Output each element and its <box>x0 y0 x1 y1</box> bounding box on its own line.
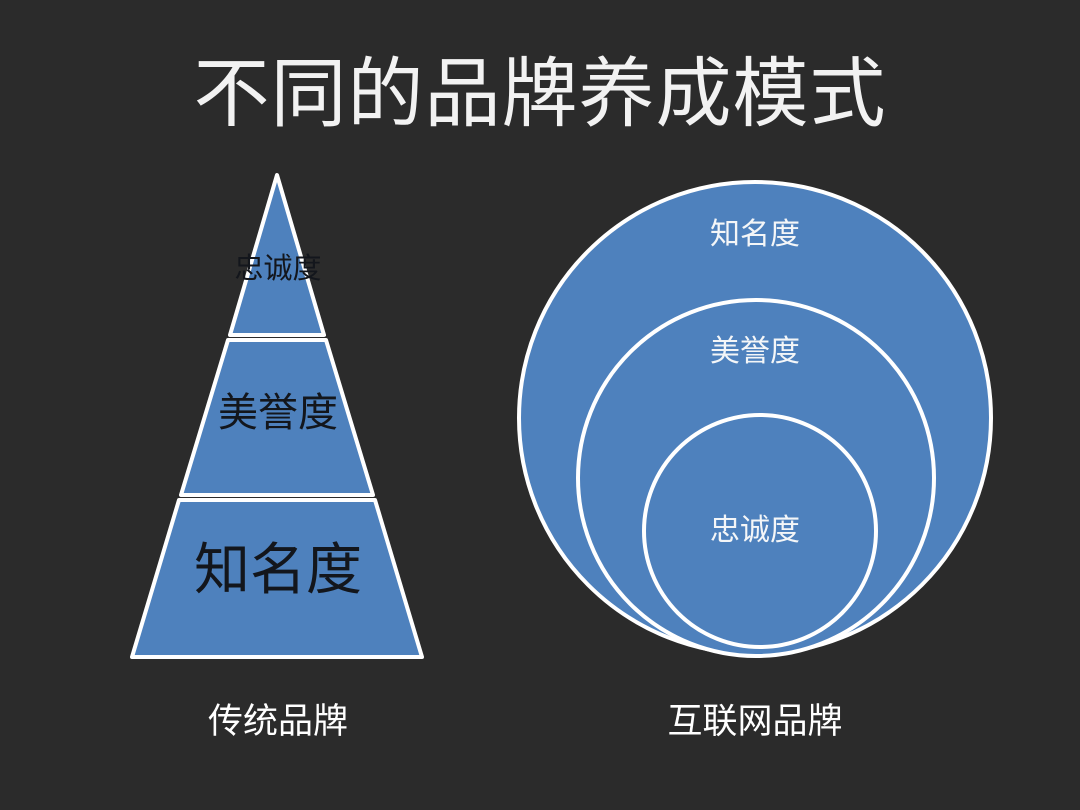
concentric-circles-shape <box>500 160 1020 780</box>
pyramid-tier-2-middle[interactable] <box>181 340 373 495</box>
pyramid-tier-3-bottom[interactable] <box>132 500 422 657</box>
pyramid-shape <box>28 160 528 780</box>
pyramid-diagram-panel <box>28 160 528 780</box>
caption-traditional-brand: 传统品牌 <box>78 700 478 744</box>
page-title: 不同的品牌养成模式 <box>0 52 1080 138</box>
circle-ring-inner[interactable] <box>644 415 876 647</box>
caption-internet-brand: 互联网品牌 <box>555 700 955 744</box>
slide-canvas: 不同的品牌养成模式 忠诚度 美誉度 知名度 知名度 美誉度 忠诚度 传统品牌 互… <box>0 0 1080 810</box>
pyramid-tier-1-top[interactable] <box>230 175 324 335</box>
circles-diagram-panel <box>500 160 1020 780</box>
